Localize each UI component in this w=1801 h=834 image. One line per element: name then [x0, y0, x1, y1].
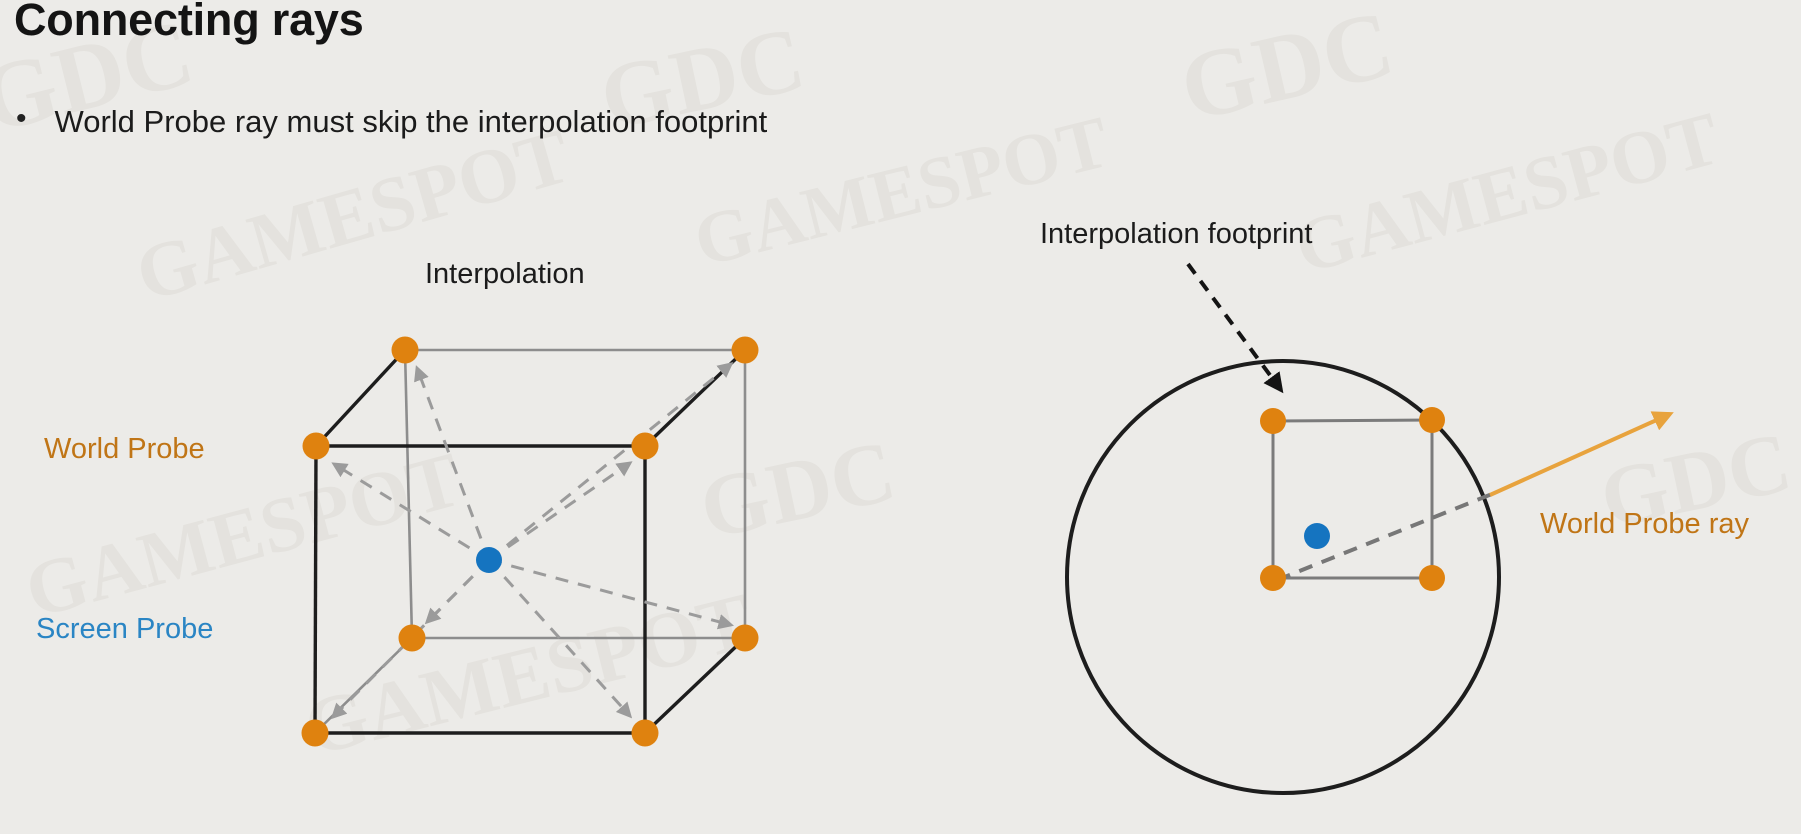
footprint-diagram [1067, 264, 1670, 793]
world-probe-dot [302, 720, 329, 747]
world-probe-dot [632, 433, 659, 460]
interpolation-rays [333, 364, 731, 717]
ray-to-back-top-left [417, 368, 489, 560]
world-probe-dot [632, 720, 659, 747]
cube-connecting-edges [315, 350, 745, 733]
world-probe-ray-solid [1490, 414, 1670, 495]
world-probe-dot [399, 625, 426, 652]
world-probe-dot [303, 433, 330, 460]
slide-canvas: GDCGAMESPOTGDCGAMESPOTGDCGAMESPOTGAMESPO… [0, 0, 1801, 834]
diagram-figure [0, 0, 1801, 834]
world-probe-dot [1419, 407, 1445, 433]
footprint-callout-arrow [1188, 264, 1281, 390]
world-probe-dot [1260, 565, 1286, 591]
world-probe-dot [732, 625, 759, 652]
world-probe-dot [1260, 408, 1286, 434]
world-probe-dot [392, 337, 419, 364]
footprint-square [1273, 420, 1432, 578]
cube-front-edges [315, 446, 645, 733]
world-probe-dot [1419, 565, 1445, 591]
ray-to-front-top-left [334, 464, 489, 560]
ray-to-back-bottom-right [489, 560, 731, 625]
screen-probe-dot [476, 547, 502, 573]
ray-to-back-top-right [489, 364, 731, 560]
screen-probe-dot [1304, 523, 1330, 549]
world-probe-dot [732, 337, 759, 364]
ray-to-front-top-right [489, 463, 630, 560]
footprint-corner-dots [1260, 407, 1445, 591]
cube-diagram [302, 337, 759, 747]
